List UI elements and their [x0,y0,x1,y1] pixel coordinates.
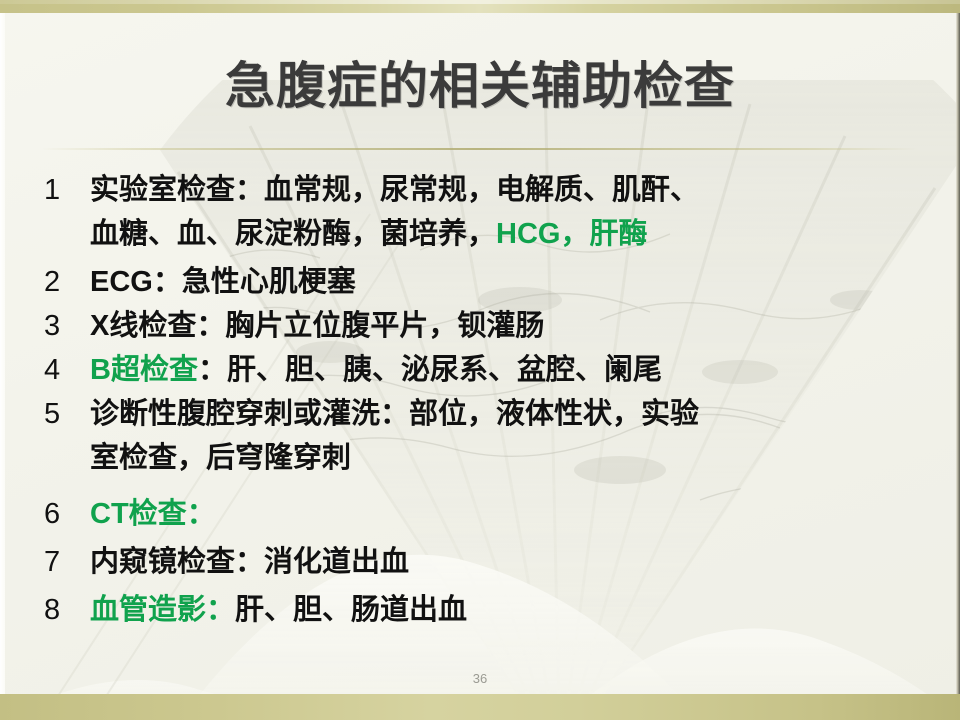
list-item: 3 X线检查：胸片立位腹平片，钡灌肠 [0,304,960,348]
list-item-highlight: HCG，肝酶 [496,218,647,250]
list-item-segment: ：肝、胆、胰、泌尿系、盆腔、阑尾 [198,354,662,386]
list-item-number: 4 [44,348,90,392]
list-item-number: 8 [44,588,90,632]
list-item-segment: 实验室检查：血常规，尿常规，电解质、肌酐、 [90,174,699,206]
list-item: 7 内窥镜检查：消化道出血 [0,540,960,584]
list-item-text: ECG：急性心肌梗塞 [90,260,930,304]
slide-canvas: 急腹症的相关辅助检查 1 实验室检查：血常规，尿常规，电解质、肌酐、 血糖、血、… [0,0,960,720]
list-item: 1 实验室检查：血常规，尿常规，电解质、肌酐、 血糖、血、尿淀粉酶，菌培养，HC… [0,168,960,256]
left-edge-strip [0,13,5,694]
list-item-segment: 诊断性腹腔穿刺或灌洗：部位，液体性状，实验 [90,398,699,430]
list-item: 5 诊断性腹腔穿刺或灌洗：部位，液体性状，实验 室检查，后穹隆穿刺 [0,392,960,480]
top-border-highlight [0,0,960,4]
list-item-number: 5 [44,392,90,436]
list-item-number: 7 [44,540,90,584]
list-item-segment: X线检查：胸片立位腹平片，钡灌肠 [90,310,544,342]
list-item-text: CT检查： [90,492,930,536]
right-edge-strip [956,13,960,694]
list-item-highlight: 血管造影： [90,594,235,626]
list-item-text: 内窥镜检查：消化道出血 [90,540,930,584]
page-title: 急腹症的相关辅助检查 [0,46,960,118]
list-item-text: X线检查：胸片立位腹平片，钡灌肠 [90,304,930,348]
list-item-number: 3 [44,304,90,348]
list-item: 2 ECG：急性心肌梗塞 [0,260,960,304]
list-item-number: 2 [44,260,90,304]
list-item-segment: 内窥镜检查：消化道出血 [90,546,409,578]
list-item-text: 实验室检查：血常规，尿常规，电解质、肌酐、 血糖、血、尿淀粉酶，菌培养，HCG，… [90,168,930,256]
list-item-segment: 室检查，后穹隆穿刺 [90,442,351,474]
list-item-highlight: CT检查： [90,498,216,530]
list-item-text: B超检查：肝、胆、胰、泌尿系、盆腔、阑尾 [90,348,930,392]
list-item-number: 1 [44,168,90,212]
list-item-number: 6 [44,492,90,536]
list-item-highlight: B超检查 [90,354,198,386]
list-item: 8 血管造影：肝、胆、肠道出血 [0,588,960,632]
list-item: 6 CT检查： [0,492,960,536]
list-item-segment: 肝、胆、肠道出血 [235,594,467,626]
page-number: 36 [0,671,960,686]
list-item-text: 血管造影：肝、胆、肠道出血 [90,588,930,632]
title-divider [42,148,918,150]
list-item-text: 诊断性腹腔穿刺或灌洗：部位，液体性状，实验 室检查，后穹隆穿刺 [90,392,930,480]
bottom-border-band [0,694,960,720]
list-item-segment: 血糖、血、尿淀粉酶，菌培养， [90,218,496,250]
examination-list: 1 实验室检查：血常规，尿常规，电解质、肌酐、 血糖、血、尿淀粉酶，菌培养，HC… [0,168,960,632]
list-item: 4 B超检查：肝、胆、胰、泌尿系、盆腔、阑尾 [0,348,960,392]
list-item-segment: ECG：急性心肌梗塞 [90,266,356,298]
